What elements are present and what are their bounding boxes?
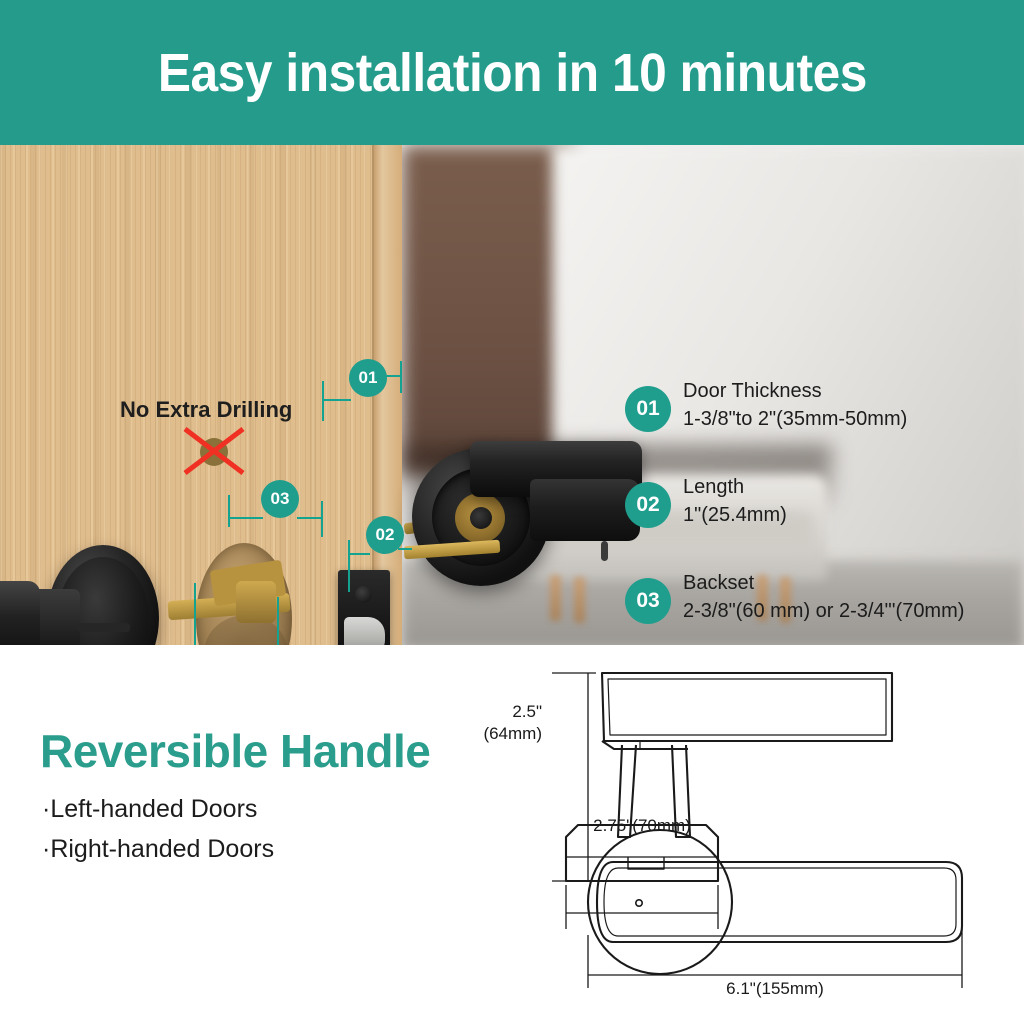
product-infographic: Easy installation in 10 minutes <box>0 0 1024 1024</box>
dim-04-tick-left <box>194 583 196 645</box>
dim-03-line-right <box>297 517 323 519</box>
legend-text-03: Backset 2-3/8"(60 mm) or 2-3/4"'(70mm) <box>683 570 964 626</box>
installation-photo: No Extra Drilling 01 03 02 04 <box>0 145 1024 645</box>
brown-wall <box>402 145 574 475</box>
height-value-mm: (64mm) <box>446 723 542 745</box>
legend-title: Backset <box>683 570 964 597</box>
sofa-leg <box>550 575 561 621</box>
reversible-handle-section: Reversible Handle ·Left-handed Doors ·Ri… <box>0 645 1024 1024</box>
lever-handle-neck <box>530 479 640 541</box>
photo-badge-01: 01 <box>349 359 387 397</box>
knob-screw <box>78 623 130 632</box>
legend-badge-01: 01 <box>625 386 671 432</box>
dim-02-line-left <box>348 553 370 555</box>
top-view-length-label: 6.1"(155mm) <box>588 978 962 1000</box>
dim-02-line-right <box>398 548 412 550</box>
legend-text-01: Door Thickness 1-3/8"to 2"(35mm-50mm) <box>683 378 907 434</box>
legend-value: 2-3/8"(60 mm) or 2-3/4"'(70mm) <box>683 597 964 626</box>
red-cross-icon <box>181 425 247 477</box>
height-value-inches: 2.5" <box>446 701 542 723</box>
side-view-height-label: 2.5" (64mm) <box>446 701 542 745</box>
dim-02-tick-left <box>348 540 350 592</box>
photo-badge-03: 03 <box>261 480 299 518</box>
legend-item: 01 Door Thickness 1-3/8"to 2"(35mm-50mm) <box>625 378 1020 474</box>
bullet-right-handed: ·Right-handed Doors <box>42 835 274 864</box>
lever-tip-slot <box>601 541 608 561</box>
legend-item: 02 Length 1"(25.4mm) <box>625 474 1020 570</box>
dim-01-tick-right <box>400 361 402 393</box>
dim-01-line-left <box>322 399 351 401</box>
lever-cam-center <box>470 507 492 529</box>
legend-item: 03 Backset 2-3/8"(60 mm) or 2-3/4"'(70mm… <box>625 570 1020 645</box>
knob-head <box>0 581 40 645</box>
side-view-width-label: 2.75"(70mm) <box>566 815 718 837</box>
spec-legend: 01 Door Thickness 1-3/8"to 2"(35mm-50mm)… <box>625 378 1020 645</box>
legend-value: 1"(25.4mm) <box>683 501 787 530</box>
dim-03-line-left <box>228 517 263 519</box>
dim-01-tick-left <box>322 381 324 421</box>
bullet-left-handed: ·Left-handed Doors <box>42 795 257 824</box>
faceplate-screw-icon <box>355 586 372 603</box>
photo-badge-02: 02 <box>366 516 404 554</box>
brass-latch-ring <box>240 583 266 617</box>
legend-badge-02: 02 <box>625 482 671 528</box>
header-banner: Easy installation in 10 minutes <box>0 0 1024 145</box>
legend-text-02: Length 1"(25.4mm) <box>683 474 787 530</box>
dim-03-tick-left <box>228 495 230 527</box>
dim-04-tick-right <box>277 597 279 645</box>
legend-title: Door Thickness <box>683 378 907 405</box>
no-extra-drilling-label: No Extra Drilling <box>120 397 292 423</box>
dim-03-tick-right <box>321 501 323 537</box>
banner-title: Easy installation in 10 minutes <box>157 42 866 104</box>
reversible-handle-title: Reversible Handle <box>40 724 430 778</box>
legend-title: Length <box>683 474 787 501</box>
legend-value: 1-3/8"to 2"(35mm-50mm) <box>683 405 907 434</box>
legend-badge-03: 03 <box>625 578 671 624</box>
latch-bolt <box>344 617 385 645</box>
sofa-leg <box>574 577 585 623</box>
